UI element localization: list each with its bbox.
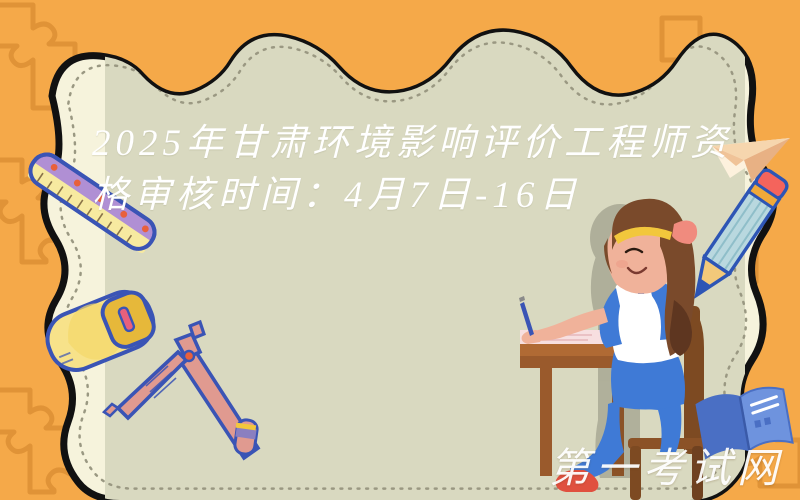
ruler-icon (25, 149, 161, 255)
pencil-sharpener-icon (39, 284, 161, 378)
pencil-icon (684, 167, 789, 303)
stationery-decorations (0, 0, 800, 500)
open-book-icon (696, 384, 793, 457)
poster-canvas: 2025年甘肃环境影响评价工程师资格审核时间：4月7日-16日 第一考试网 (0, 0, 800, 500)
